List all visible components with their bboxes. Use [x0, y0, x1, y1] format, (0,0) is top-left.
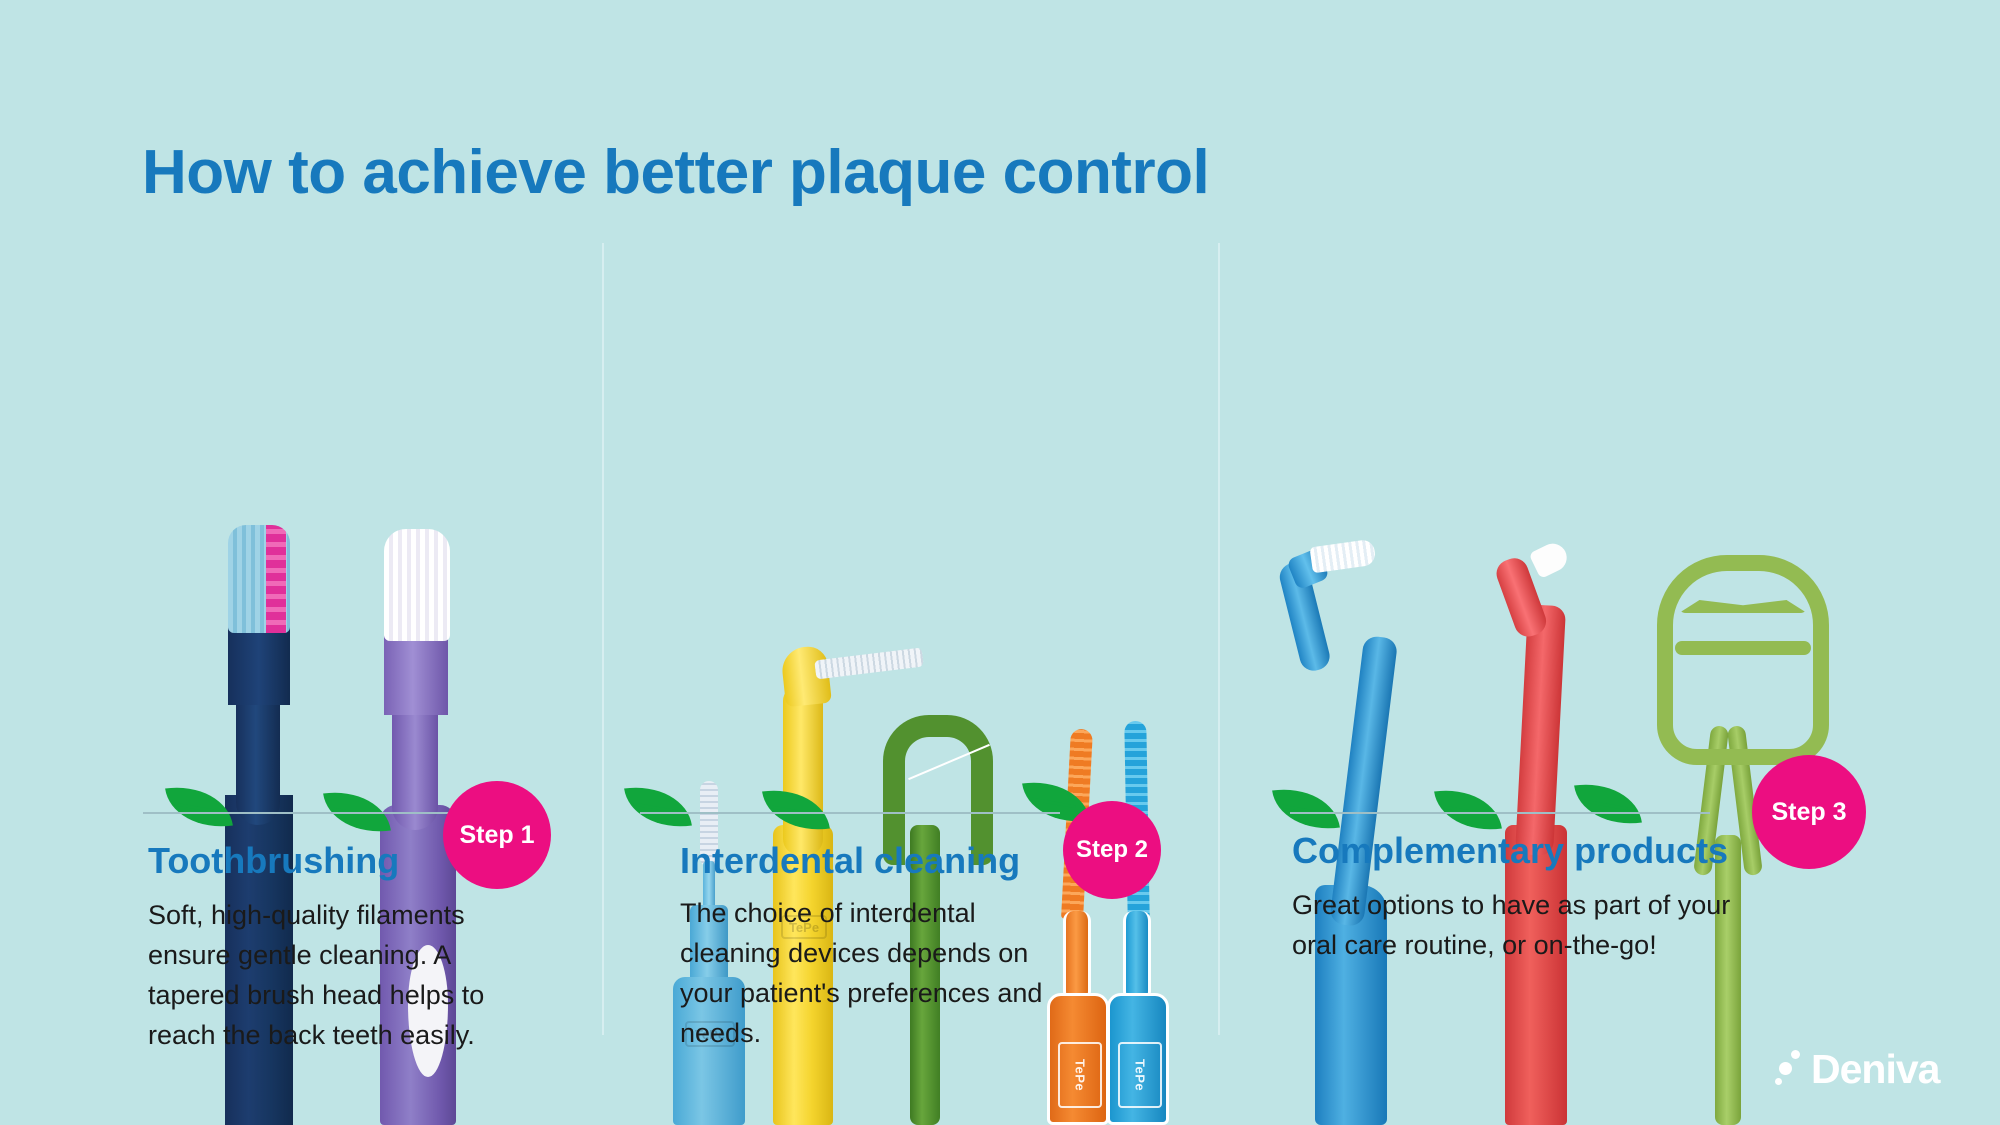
deniva-logo: Deniva [1775, 1048, 1970, 1096]
purple-toothbrush-bristles [384, 529, 450, 641]
step-badge-1: Step 1 [443, 781, 551, 889]
body-complementary-products: Great options to have as part of your or… [1292, 885, 1732, 965]
body-interdental-cleaning: The choice of interdental cleaning devic… [680, 893, 1080, 1053]
step-badge-2: Step 2 [1063, 801, 1161, 899]
leaf-icon [165, 780, 233, 834]
logo-dot-icon [1775, 1078, 1782, 1085]
tongue-cleaner-loop [1657, 555, 1829, 765]
body-toothbrushing: Soft, high-quality filaments ensure gent… [148, 895, 538, 1055]
navy-toothbrush-bristles [228, 525, 290, 633]
tepe-brand-label: TePe [1118, 1042, 1162, 1108]
column-divider-1 [602, 243, 604, 1035]
red-single-tuft-shaft [1515, 604, 1566, 856]
blue-easypick-neck [1123, 911, 1151, 1001]
blue-angled-brush-filaments [1310, 539, 1377, 574]
logo-wordmark: Deniva [1811, 1046, 1939, 1093]
blue-easypick-body: TePe [1107, 993, 1169, 1125]
pink-bristle-stripe [266, 525, 286, 633]
yellow-brush-filaments [814, 647, 924, 679]
heading-complementary-products: Complementary products [1292, 830, 1728, 872]
column-divider-2 [1218, 243, 1220, 1035]
logo-dot-icon [1791, 1050, 1800, 1059]
step-badge-3: Step 3 [1752, 755, 1866, 869]
heading-toothbrushing: Toothbrushing [148, 840, 399, 882]
blue-angled-brush-shaft [1329, 635, 1398, 927]
heading-interdental-cleaning: Interdental cleaning [680, 840, 1020, 882]
leaf-icon [624, 780, 692, 834]
tongue-cleaner-rib [1675, 641, 1811, 655]
tongue-cleaner-stem [1715, 835, 1741, 1125]
leaf-icon [1574, 777, 1642, 831]
infographic-page: How to achieve better plaque control [0, 0, 2000, 1125]
leaf-icon [1434, 783, 1502, 837]
leaf-icon [1272, 782, 1340, 836]
product-baseline-2 [640, 812, 1060, 814]
yellow-angled-brush-neck [783, 685, 823, 855]
product-baseline-3 [1290, 812, 1710, 814]
logo-dot-icon [1779, 1062, 1792, 1075]
red-single-tuft-filaments [1529, 539, 1572, 579]
